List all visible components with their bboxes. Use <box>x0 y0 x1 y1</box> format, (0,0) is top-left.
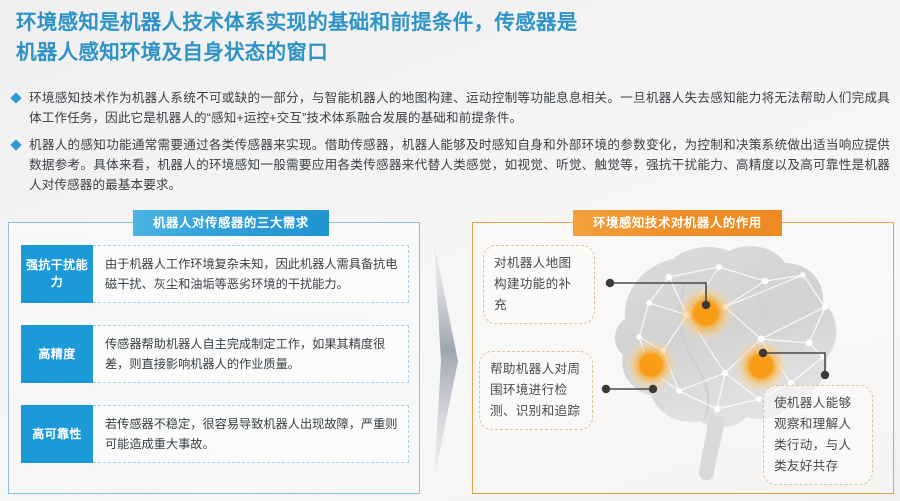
right-panel-effects: 环境感知技术对机器人的作用 <box>472 222 894 494</box>
requirement-label: 高可靠性 <box>21 405 93 463</box>
left-panel-requirements: 机器人对传感器的三大需求 强抗干扰能力 由于机器人工作环境复杂未知，因此机器人需… <box>8 222 420 494</box>
diamond-bullet-icon <box>10 92 21 103</box>
requirement-row: 高可靠性 若传感器不稳定，很容易导致机器人出现故障，严重则可能造成重大事故。 <box>21 405 409 463</box>
bullet-list: 环境感知技术作为机器人系统不可或缺的一部分，与智能机器人的地图构建、运动控制等功… <box>12 88 890 202</box>
requirement-row: 高精度 传感器帮助机器人自主完成制定工作，如果其精度很差，则直接影响机器人的作业… <box>21 325 409 383</box>
callout-box: 帮助机器人对周围环境进行检测、识别和追踪 <box>479 351 593 430</box>
diamond-bullet-icon <box>10 139 21 150</box>
requirement-label: 高精度 <box>21 325 93 383</box>
hotspot-node <box>625 339 677 391</box>
requirement-row: 强抗干扰能力 由于机器人工作环境复杂未知，因此机器人需具备抗电磁干扰、灰尘和油垢… <box>21 245 409 303</box>
callout-box: 使机器人能够观察和理解人类行动，与人类友好共存 <box>763 385 873 485</box>
callout-box: 对机器人地图构建功能的补充 <box>483 245 595 324</box>
requirement-list: 强抗干扰能力 由于机器人工作环境复杂未知，因此机器人需具备抗电磁干扰、灰尘和油垢… <box>21 245 409 485</box>
hotspot-node <box>678 285 734 341</box>
bullet-item: 机器人的感知功能通常需要通过各类传感器来实现。借助传感器，机器人能够及时感知自身… <box>12 135 890 195</box>
page-title-line2: 机器人感知环境及自身状态的窗口 <box>16 38 876 68</box>
right-arrow-divider-icon <box>428 236 462 486</box>
page-title-line1: 环境感知是机器人技术体系实现的基础和前提条件，传感器是 <box>16 11 578 34</box>
page-title: 环境感知是机器人技术体系实现的基础和前提条件，传感器是 机器人感知环境及自身状态… <box>16 8 876 68</box>
bullet-item-text: 环境感知技术作为机器人系统不可或缺的一部分，与智能机器人的地图构建、运动控制等功… <box>29 88 890 128</box>
requirement-description: 由于机器人工作环境复杂未知，因此机器人需具备抗电磁干扰、灰尘和油垢等恶劣环境的干… <box>93 245 409 303</box>
bullet-item: 环境感知技术作为机器人系统不可或缺的一部分，与智能机器人的地图构建、运动控制等功… <box>12 88 890 128</box>
bullet-item-text: 机器人的感知功能通常需要通过各类传感器来实现。借助传感器，机器人能够及时感知自身… <box>29 135 890 195</box>
requirement-description: 传感器帮助机器人自主完成制定工作，如果其精度很差，则直接影响机器人的作业质量。 <box>93 325 409 383</box>
requirement-description: 若传感器不稳定，很容易导致机器人出现故障，严重则可能造成重大事故。 <box>93 405 409 463</box>
requirement-label: 强抗干扰能力 <box>21 245 93 303</box>
left-panel-caption: 机器人对传感器的三大需求 <box>133 210 329 236</box>
brain-network-illustration: 对机器人地图构建功能的补充 帮助机器人对周围环境进行检测、识别和追踪 使机器人能… <box>473 223 893 493</box>
